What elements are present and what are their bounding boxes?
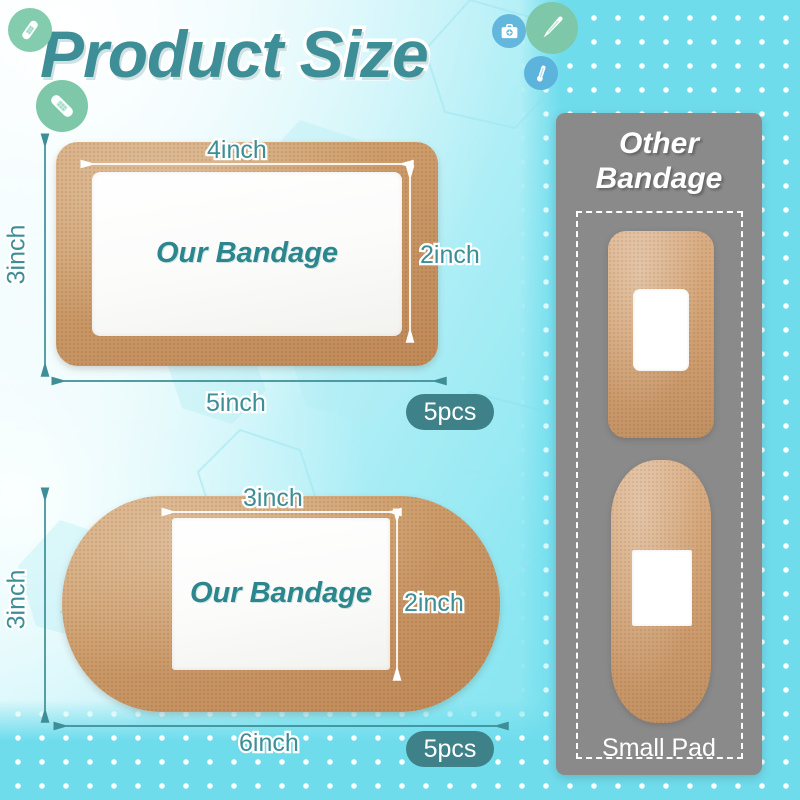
- bandage-icon: [8, 8, 52, 52]
- other-bandage-panel: Other Bandage Small Pad: [556, 113, 762, 775]
- tweezers-icon-glyph: [535, 11, 569, 45]
- other-oval-bandage-pad: [632, 550, 692, 626]
- first-aid-kit-icon-glyph: [499, 21, 520, 42]
- outer-width-label: 6inch: [239, 729, 299, 758]
- panel-title: Other Bandage: [556, 127, 762, 196]
- bandage-icon-glyph: [46, 90, 78, 122]
- page-title: Product Size: [40, 16, 428, 92]
- other-rectangular-bandage-pad: [633, 289, 689, 371]
- bandage-icon-glyph: [17, 17, 43, 43]
- thermometer-icon: [524, 56, 558, 90]
- bandage-icon: [36, 80, 88, 132]
- outer-height-label: 3inch: [2, 225, 31, 285]
- large-rectangular-bandage-pad: Our Bandage: [92, 172, 402, 336]
- quantity-badge-product-1: 5pcs: [406, 394, 494, 430]
- quantity-badge-product-2: 5pcs: [406, 731, 494, 767]
- tweezers-icon: [526, 2, 578, 54]
- panel-caption: Small Pad: [556, 734, 762, 763]
- first-aid-kit-icon: [492, 14, 526, 48]
- pad-label: Our Bandage: [156, 237, 338, 270]
- outer-width-label: 5inch: [206, 389, 266, 418]
- outer-height-label: 3inch: [2, 570, 31, 630]
- thermometer-icon-glyph: [531, 63, 552, 84]
- large-oval-bandage-pad: Our Bandage: [172, 518, 390, 670]
- pad-width-label: 4inch: [207, 136, 267, 165]
- pad-label: Our Bandage: [190, 577, 372, 610]
- infographic-canvas: Product Size: [0, 0, 800, 800]
- pad-height-label: 2inch: [404, 589, 464, 618]
- pad-width-label: 3inch: [243, 484, 303, 513]
- pad-height-label: 2inch: [420, 241, 480, 270]
